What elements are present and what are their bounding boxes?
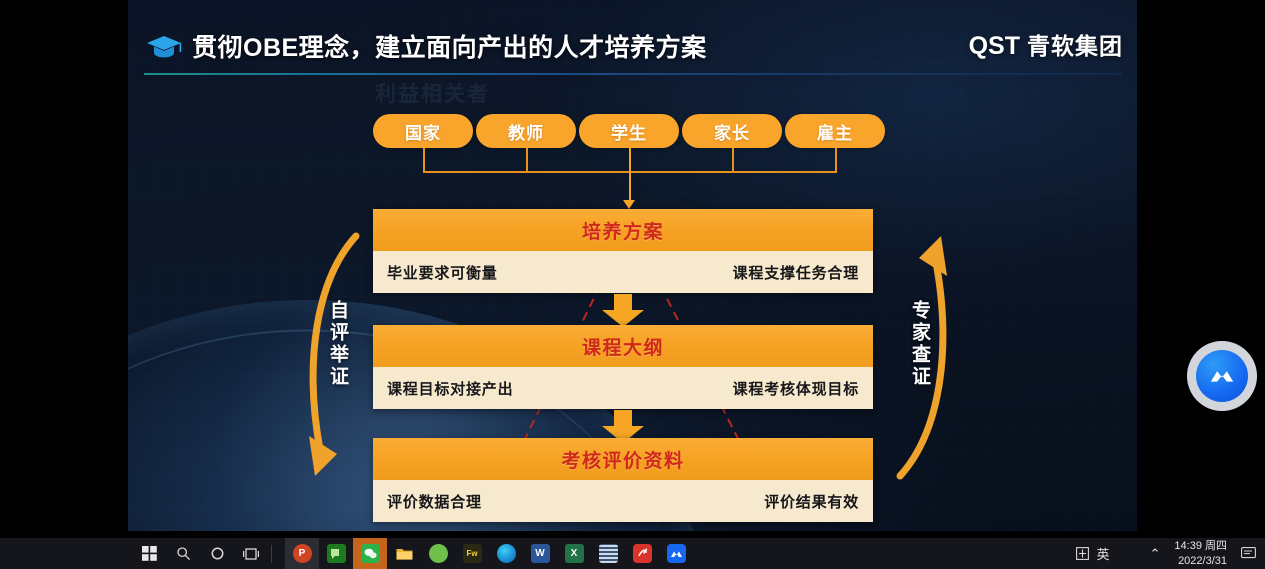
stage-left-label: 课程目标对接产出 [387, 378, 513, 399]
connector-line-employer [835, 148, 837, 171]
company-logo: QST青软集团 [969, 27, 1123, 61]
stage-title: 课程大纲 [373, 325, 873, 367]
connector-line-teacher [526, 148, 528, 171]
stage-right-label: 课程支撑任务合理 [733, 262, 859, 283]
stage-body: 评价数据合理 评价结果有效 [373, 480, 873, 522]
stage-card-assessment-materials[interactable]: 考核评价资料 评价数据合理 评价结果有效 [373, 438, 873, 522]
taskbar-app-word[interactable]: W [523, 538, 557, 569]
taskbar-left-group: P [132, 538, 693, 569]
stage-left-label: 评价数据合理 [387, 491, 482, 512]
presentation-slide[interactable]: 利益相关者 贯彻OBE理念，建立面向产出的人才培养方案 QST青软集团 国家 教… [128, 0, 1137, 531]
page-title: 贯彻OBE理念，建立面向产出的人才培养方案 [192, 28, 707, 64]
background-ghost-text: 利益相关者 [375, 78, 490, 108]
windows-taskbar[interactable]: P [0, 538, 1265, 569]
stakeholder-pill-country[interactable]: 国家 [373, 114, 473, 148]
connector-drop-line [629, 148, 631, 202]
connector-line-parent [732, 148, 734, 171]
taskbar-app-fireworks[interactable]: Fw [455, 538, 489, 569]
stage-title: 培养方案 [373, 209, 873, 251]
taskbar-app-green-chat[interactable] [319, 538, 353, 569]
taskbar-app-stripes[interactable] [591, 538, 625, 569]
edge-icon [497, 544, 516, 563]
stripes-icon [599, 544, 618, 563]
taskbar-separator [271, 545, 282, 563]
stage-right-label: 评价结果有效 [764, 491, 859, 512]
file-explorer-icon [395, 544, 414, 563]
meeting-floating-button[interactable] [1187, 341, 1257, 411]
stakeholder-pill-teacher[interactable]: 教师 [476, 114, 576, 148]
stage-body: 毕业要求可衡量 课程支撑任务合理 [373, 251, 873, 293]
stage-title: 考核评价资料 [373, 438, 873, 480]
stage-card-course-syllabus[interactable]: 课程大纲 课程目标对接产出 课程考核体现目标 [373, 325, 873, 409]
taskbar-app-wechat[interactable] [353, 538, 387, 569]
right-side-label: 专家查证 [906, 300, 933, 388]
connector-drop-arrowhead [623, 200, 635, 209]
blue-m-icon [667, 544, 686, 563]
word-icon: W [531, 544, 550, 563]
start-button[interactable] [132, 538, 166, 569]
search-button[interactable] [166, 538, 200, 569]
stakeholder-pill-student[interactable]: 学生 [579, 114, 679, 148]
excel-icon: X [565, 544, 584, 563]
stage-body: 课程目标对接产出 课程考核体现目标 [373, 367, 873, 409]
notification-icon [1241, 547, 1256, 560]
taskbar-app-file-explorer[interactable] [387, 538, 421, 569]
left-side-label: 自评举证 [324, 300, 351, 388]
red-arrow-icon [633, 544, 652, 563]
clock[interactable]: 14:39 周四 2022/3/31 [1174, 540, 1227, 567]
fireworks-icon: Fw [463, 544, 482, 563]
green-chat-icon [327, 544, 346, 563]
tray-expand-chevron[interactable]: ⌃ [1150, 546, 1161, 562]
taskbar-app-edge[interactable] [489, 538, 523, 569]
connector-line-country [423, 148, 425, 171]
task-view-button[interactable] [234, 538, 268, 569]
header-divider [144, 73, 1122, 75]
taskbar-app-green-circle[interactable] [421, 538, 455, 569]
powerpoint-icon: P [293, 544, 312, 563]
green-circle-icon [429, 544, 448, 563]
logo-mark: QST [969, 32, 1020, 60]
taskbar-app-excel[interactable]: X [557, 538, 591, 569]
stage-card-training-plan[interactable]: 培养方案 毕业要求可衡量 课程支撑任务合理 [373, 209, 873, 293]
ime-indicator[interactable]: 英 [1076, 544, 1109, 563]
slide-header: 贯彻OBE理念，建立面向产出的人才培养方案 QST青软集团 [128, 0, 1137, 78]
logo-text: 青软集团 [1027, 33, 1123, 59]
mountain-logo-icon [1196, 350, 1248, 402]
taskbar-app-red-arrow[interactable] [625, 538, 659, 569]
wechat-icon [361, 544, 380, 563]
flow-arrow-down-1 [601, 294, 645, 328]
stage-right-label: 课程考核体现目标 [733, 378, 859, 399]
screen: 利益相关者 贯彻OBE理念，建立面向产出的人才培养方案 QST青软集团 国家 教… [0, 0, 1265, 569]
taskbar-app-blue-m[interactable] [659, 538, 693, 569]
stakeholder-pill-employer[interactable]: 雇主 [785, 114, 885, 148]
ime-label: 英 [1096, 544, 1109, 563]
clock-time: 14:39 周四 [1174, 540, 1227, 552]
stakeholder-pill-parent[interactable]: 家长 [682, 114, 782, 148]
stage-left-label: 毕业要求可衡量 [387, 262, 498, 283]
graduation-cap-icon [146, 34, 182, 60]
clock-date: 2022/3/31 [1174, 555, 1227, 567]
system-tray: 英 ⌃ 14:39 周四 2022/3/31 [1076, 538, 1261, 569]
taskbar-app-powerpoint[interactable]: P [285, 538, 319, 569]
ime-icon [1076, 547, 1089, 560]
action-center-button[interactable] [1235, 547, 1261, 560]
cortana-button[interactable] [200, 538, 234, 569]
